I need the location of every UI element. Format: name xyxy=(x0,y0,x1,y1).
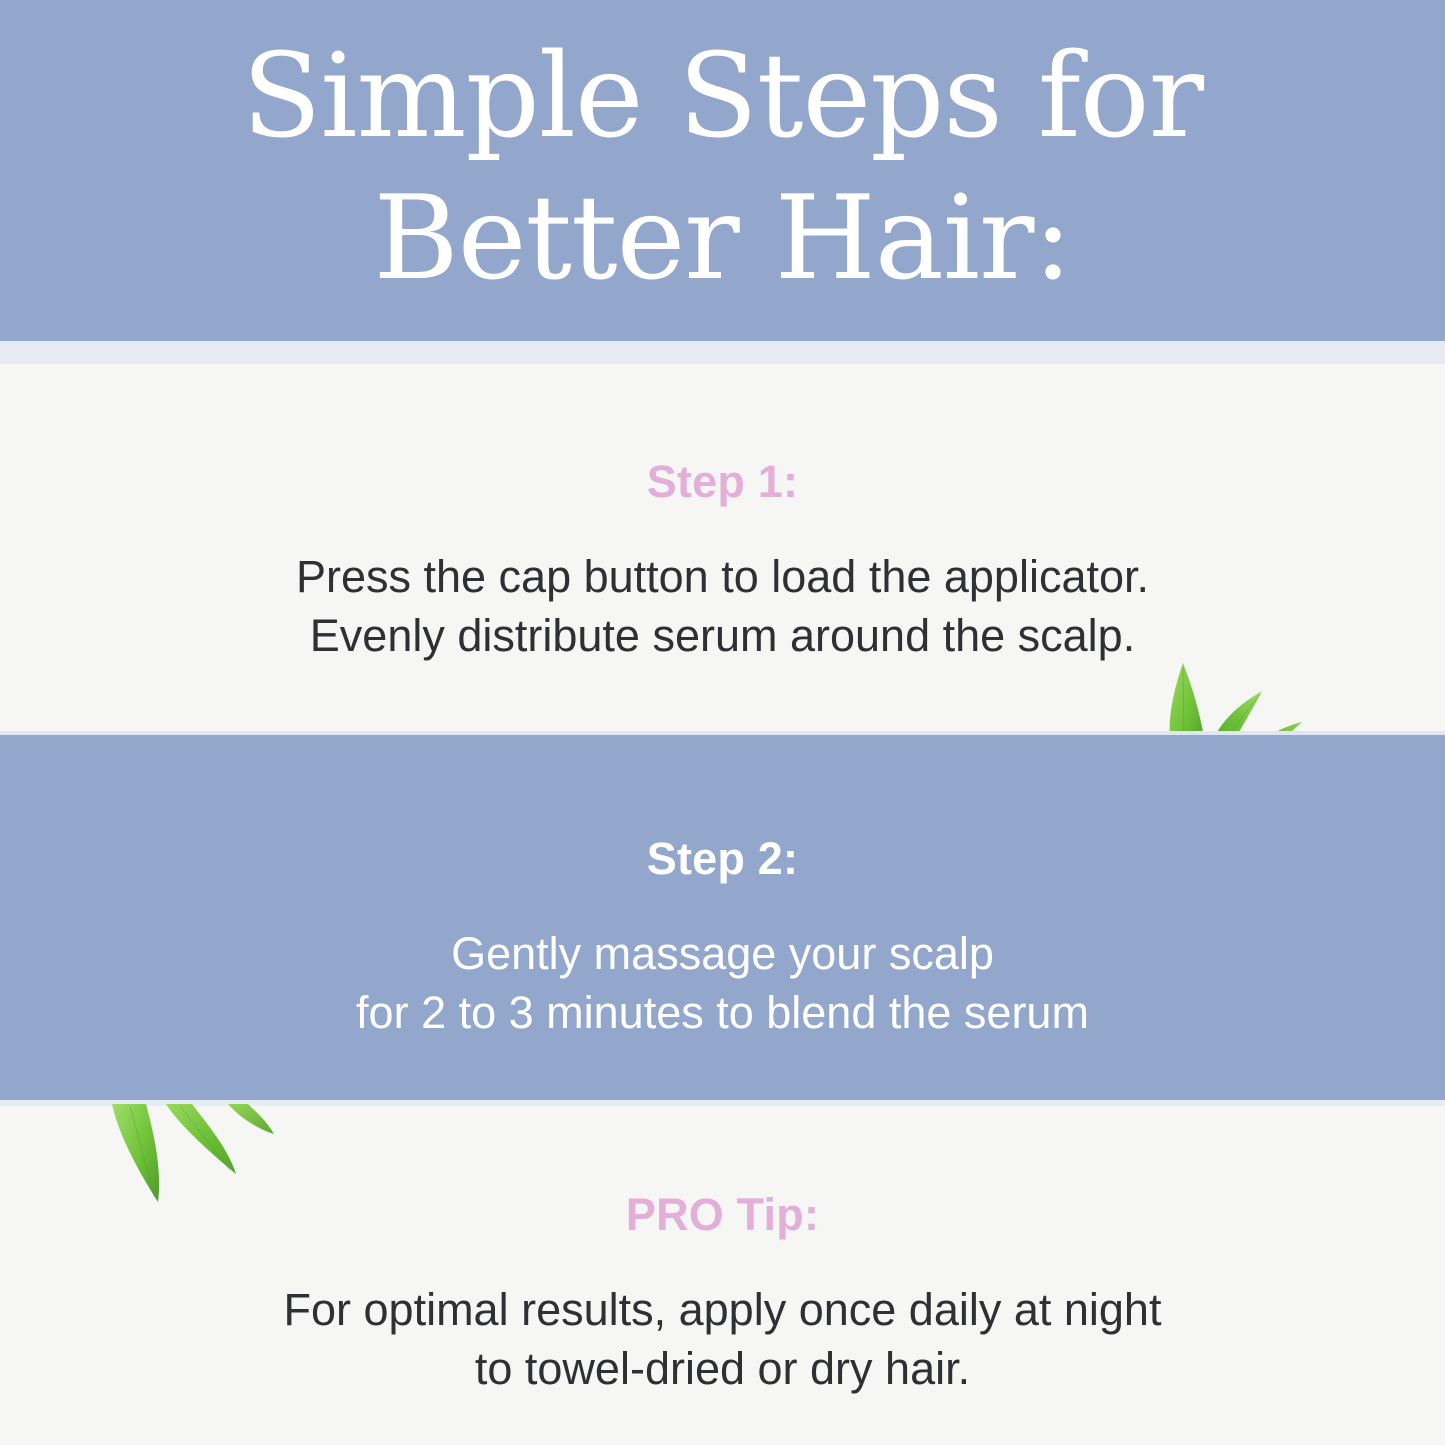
pro-tip-body-line-1: For optimal results, apply once daily at… xyxy=(0,1281,1445,1340)
pro-tip-section: PRO Tip: For optimal results, apply once… xyxy=(0,1192,1445,1398)
step-2-body-line-1: Gently massage your scalp xyxy=(0,925,1445,984)
step-1-body: Press the cap button to load the applica… xyxy=(0,548,1445,665)
page-title-line-2: Better Hair: xyxy=(373,168,1071,310)
step-1-label: Step 1: xyxy=(0,459,1445,504)
header-divider-strip xyxy=(0,341,1445,364)
step-2-body: Gently massage your scalp for 2 to 3 min… xyxy=(0,925,1445,1042)
pro-tip-body: For optimal results, apply once daily at… xyxy=(0,1281,1445,1398)
pro-tip-body-line-2: to towel-dried or dry hair. xyxy=(0,1340,1445,1399)
step-2-body-line-2: for 2 to 3 minutes to blend the serum xyxy=(0,984,1445,1043)
step-1-body-line-1: Press the cap button to load the applica… xyxy=(0,548,1445,607)
header-divider-hairline xyxy=(0,364,1445,369)
page-title-line-1: Simple Steps for xyxy=(242,26,1203,168)
pro-tip-label: PRO Tip: xyxy=(0,1192,1445,1237)
step-1-section: Step 1: Press the cap button to load the… xyxy=(0,459,1445,665)
step-2-label: Step 2: xyxy=(0,836,1445,881)
header-band: Simple Steps for Better Hair: xyxy=(0,0,1445,341)
step-2-section: Step 2: Gently massage your scalp for 2 … xyxy=(0,836,1445,1042)
infographic-page: Simple Steps for Better Hair: Step 1: Pr… xyxy=(0,0,1445,1445)
